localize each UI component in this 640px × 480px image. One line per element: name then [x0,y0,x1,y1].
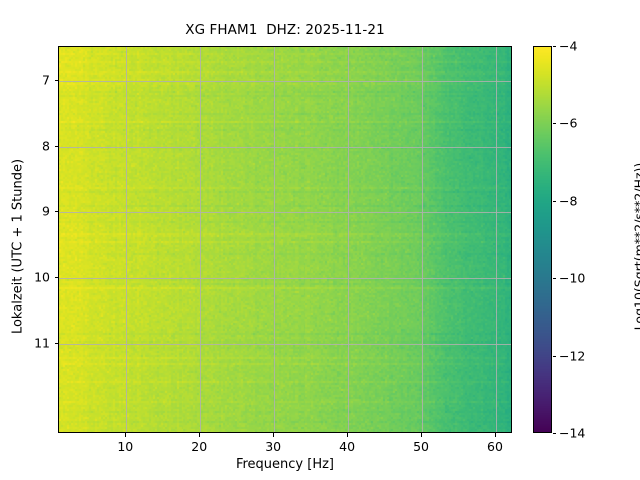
colorbar-tick-mark [553,123,557,124]
x-tick-mark [495,433,496,437]
x-tick-label: 40 [339,439,355,454]
x-tick-label: 60 [487,439,503,454]
x-tick-label: 50 [413,439,429,454]
y-tick-label: 10 [34,270,50,285]
colorbar-tick-mark [553,46,557,47]
y-tick-label: 9 [42,204,50,219]
colorbar-tick-label: −12 [559,348,585,363]
x-tick-label: 20 [191,439,207,454]
spectrogram-image [59,47,512,433]
x-tick-label: 30 [265,439,281,454]
x-tick-mark [125,433,126,437]
colorbar-tick-label: −10 [559,271,585,286]
y-axis-label: Lokalzeit (UTC + 1 Stunde) [11,147,26,347]
page-title: XG FHAM1 DHZ: 2025-11-21 [0,22,570,38]
y-tick-mark [55,277,59,278]
y-tick-mark [55,80,59,81]
x-tick-mark [347,433,348,437]
y-tick-label: 7 [42,72,50,87]
colorbar-gradient [534,47,552,433]
x-axis-label: Frequency [Hz] [58,457,512,472]
colorbar-tick-mark [553,433,557,434]
x-tick-mark [421,433,422,437]
y-tick-mark [55,343,59,344]
colorbar-label: Log10(Sqrt(m**2/s**2/Hz)) [632,132,640,362]
y-tick-mark [55,211,59,212]
y-tick-label: 8 [42,138,50,153]
colorbar-tick-mark [553,201,557,202]
y-tick-label: 11 [34,336,50,351]
colorbar [533,46,552,433]
x-tick-mark [199,433,200,437]
y-tick-mark [55,146,59,147]
colorbar-tick-label: −8 [559,193,577,208]
spectrogram-axes [58,46,512,433]
colorbar-tick-label: −14 [559,426,585,441]
colorbar-tick-mark [553,278,557,279]
x-tick-label: 10 [117,439,133,454]
figure-canvas: XG FHAM1 DHZ: 2025-11-21 102030405060 78… [0,0,640,480]
colorbar-tick-label: −4 [559,39,577,54]
x-tick-mark [273,433,274,437]
colorbar-tick-mark [553,356,557,357]
colorbar-tick-label: −6 [559,116,577,131]
